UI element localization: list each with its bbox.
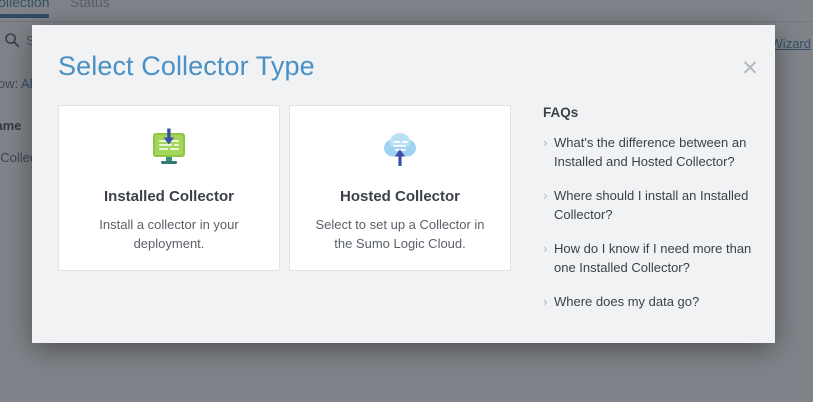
faq-item-label: Where does my data go?: [554, 293, 699, 312]
chevron-right-icon: ›: [543, 187, 554, 205]
faq-item-label: How do I know if I need more than one In…: [554, 240, 757, 278]
faq-item-how-many[interactable]: › How do I know if I need more than one …: [543, 240, 757, 278]
faq-item-difference[interactable]: › What's the difference between an Insta…: [543, 134, 757, 172]
installed-collector-title: Installed Collector: [104, 188, 234, 205]
close-icon[interactable]: ✕: [737, 55, 763, 81]
faq-item-label: What's the difference between an Install…: [554, 134, 757, 172]
select-collector-type-dialog: ✕ Select Collector Type: [32, 25, 775, 343]
faq-panel: FAQs › What's the difference between an …: [543, 105, 757, 327]
chevron-right-icon: ›: [543, 240, 554, 258]
faq-heading: FAQs: [543, 105, 757, 120]
dialog-body: Installed Collector Install a collector …: [58, 105, 757, 327]
hosted-collector-cloud-icon: [377, 126, 423, 174]
collector-type-card-list: Installed Collector Install a collector …: [58, 105, 511, 271]
hosted-collector-card[interactable]: Hosted Collector Select to set up a Coll…: [289, 105, 511, 271]
hosted-collector-description: Select to set up a Collector in the Sumo…: [313, 216, 488, 254]
faq-item-data-destination[interactable]: › Where does my data go?: [543, 293, 757, 312]
chevron-right-icon: ›: [543, 293, 554, 311]
chevron-right-icon: ›: [543, 134, 554, 152]
installed-collector-card[interactable]: Installed Collector Install a collector …: [58, 105, 280, 271]
installed-collector-monitor-icon: [146, 126, 192, 174]
installed-collector-description: Install a collector in your deployment.: [82, 216, 257, 254]
dialog-title: Select Collector Type: [58, 51, 315, 82]
hosted-collector-title: Hosted Collector: [340, 188, 460, 205]
faq-item-label: Where should I install an Installed Coll…: [554, 187, 757, 225]
faq-item-where-install[interactable]: › Where should I install an Installed Co…: [543, 187, 757, 225]
